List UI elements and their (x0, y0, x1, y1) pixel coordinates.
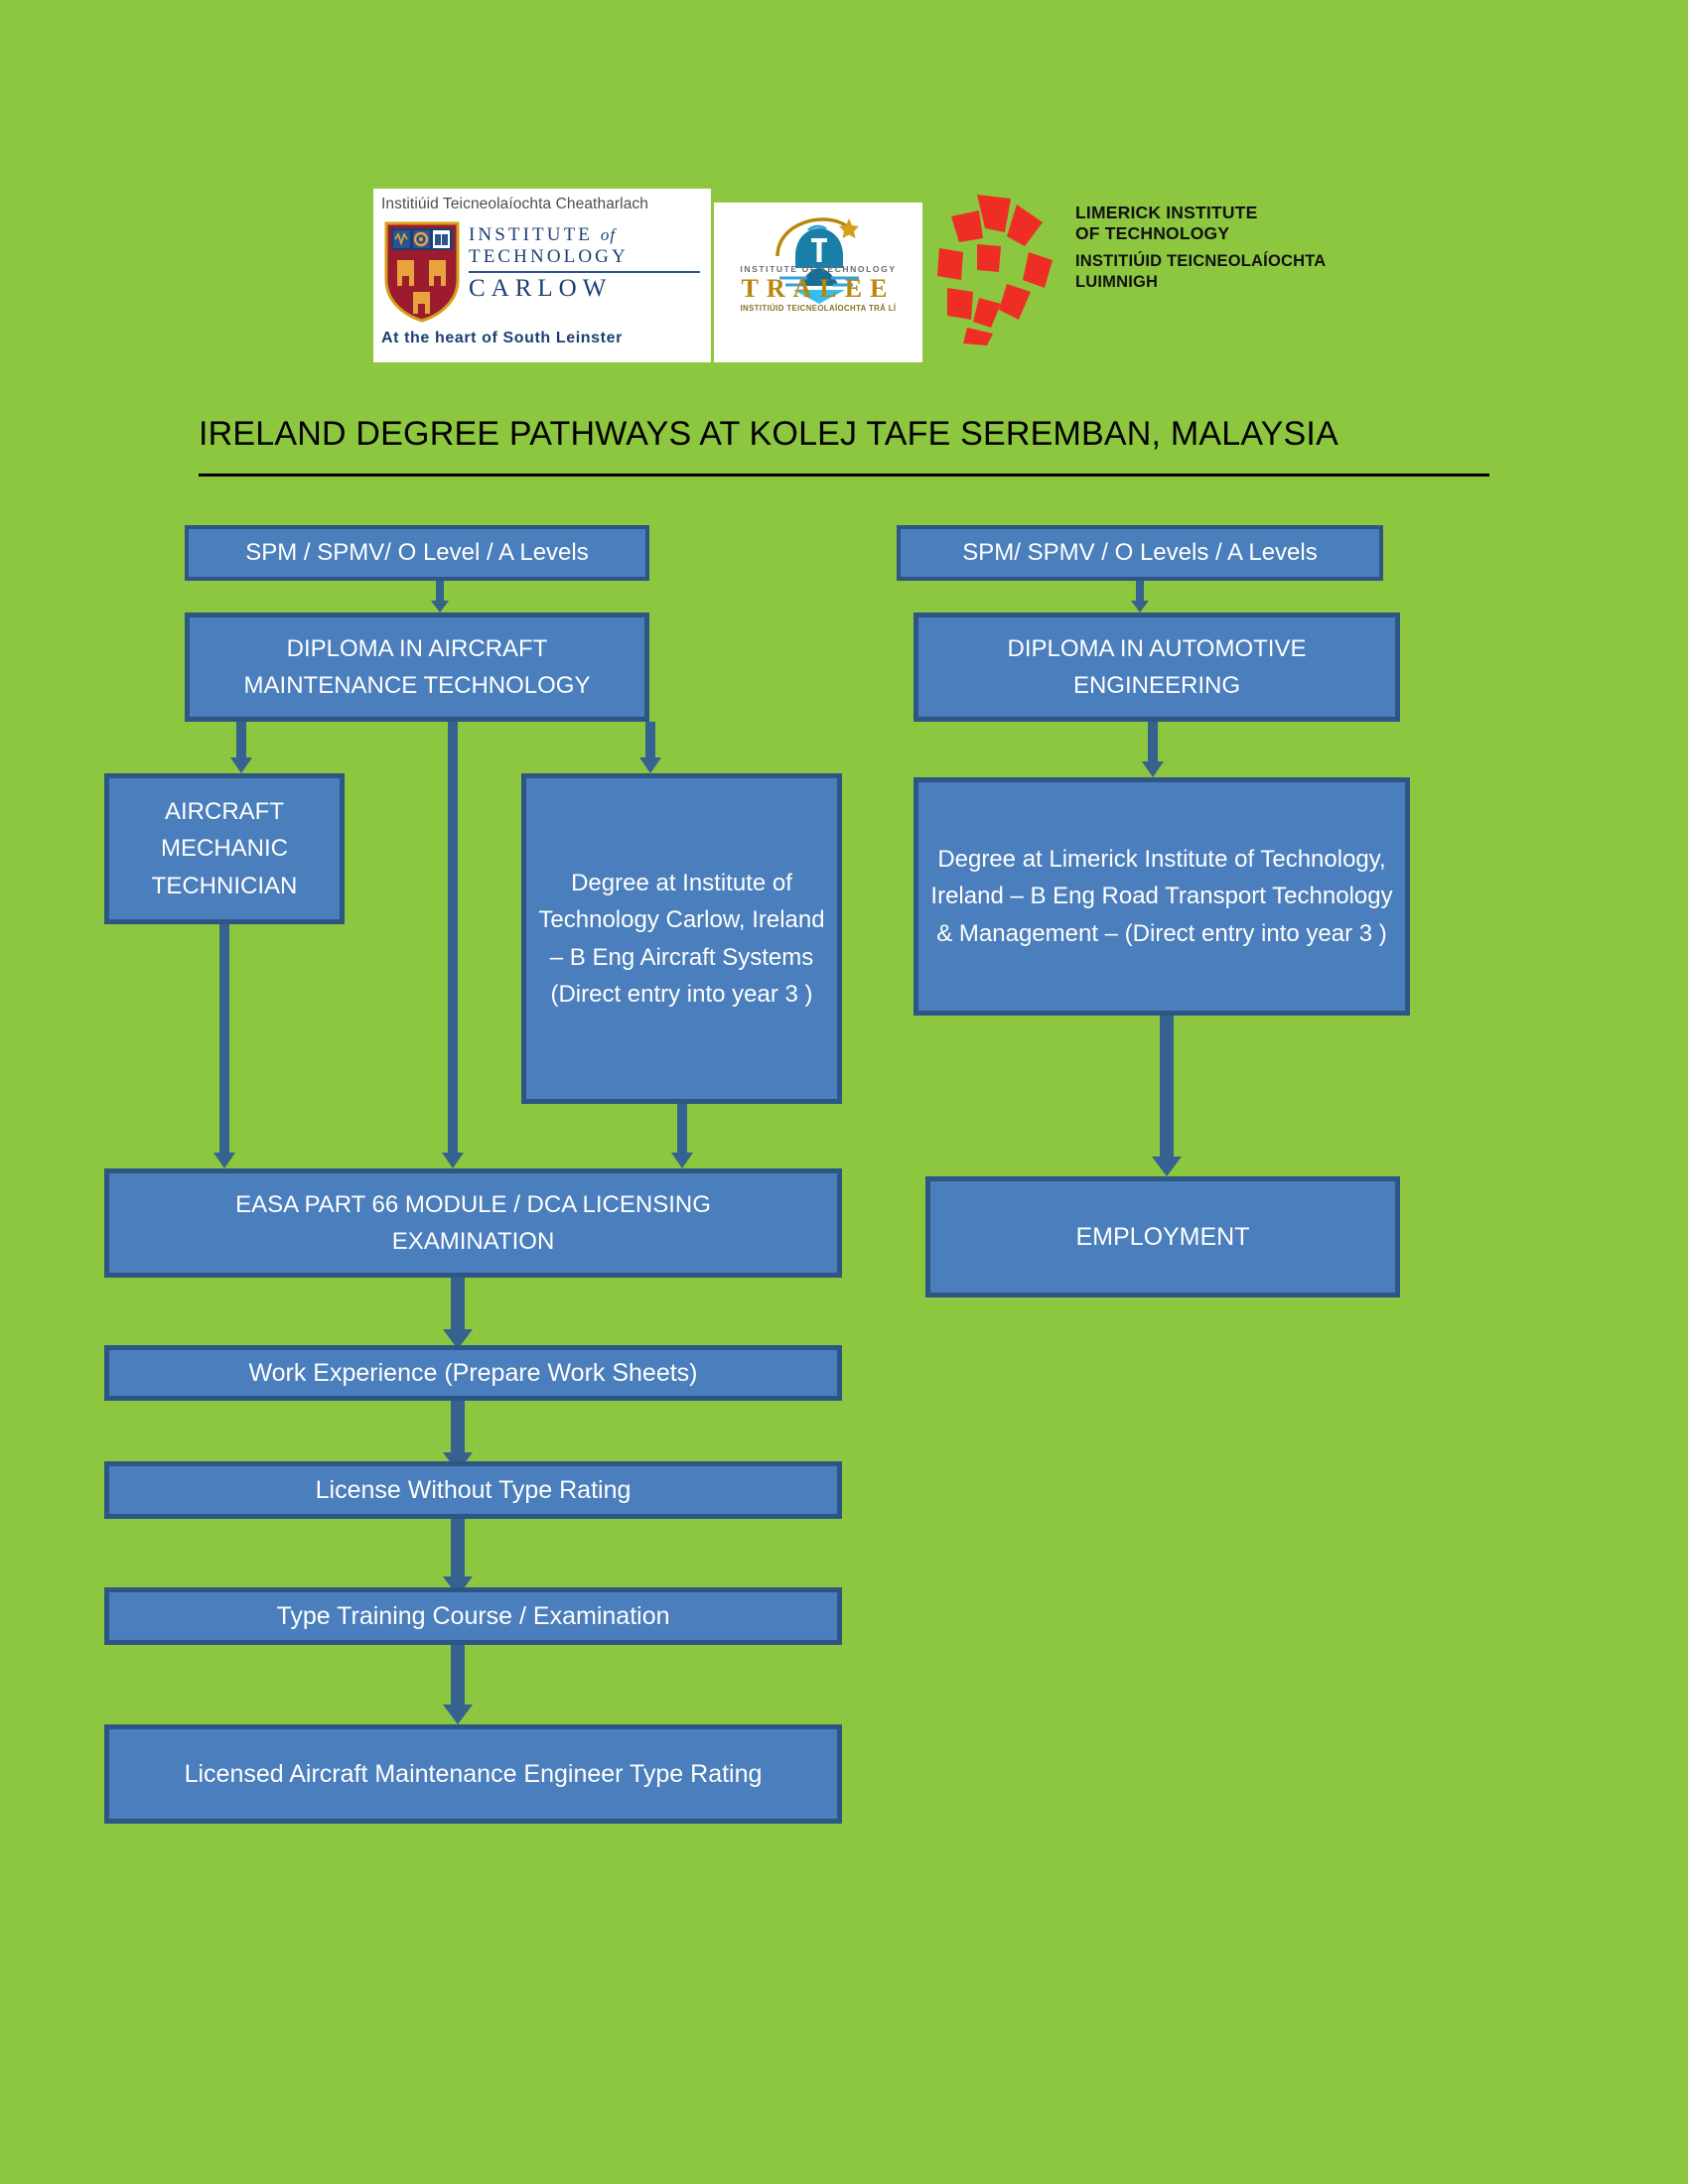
limerick-line3: INSTITIÚID TEICNEOLAÍOCHTA (1075, 251, 1353, 272)
connector-left-diploma-to-technician (230, 722, 252, 773)
tralee-caption-irish: INSTITIÚID TEICNEOLAÍOCHTA TRÁ LÍ (730, 304, 907, 313)
node-right-entry-label: SPM/ SPMV / O Levels / A Levels (962, 534, 1317, 571)
flowchart-page: Institiúid Teicneolaíochta Cheatharlach (0, 0, 1688, 2184)
node-left-easa[interactable]: EASA PART 66 MODULE / DCA LICENSING EXAM… (104, 1168, 842, 1278)
node-left-work-experience-label: Work Experience (Prepare Work Sheets) (248, 1354, 697, 1393)
limerick-line2: OF TECHNOLOGY (1075, 223, 1353, 244)
connector-left-license-to-type-training (443, 1519, 473, 1598)
carlow-line2: TECHNOLOGY (469, 246, 703, 268)
institute-of-technology-tralee-logo: INSTITUTE OF TECHNOLOGY TRALEE INSTITIÚI… (714, 203, 922, 362)
node-left-technician-line3: TECHNICIAN (152, 868, 298, 904)
carlow-line3: CARLOW (469, 275, 703, 303)
node-right-diploma-line1: DIPLOMA IN AUTOMOTIVE (1008, 630, 1307, 667)
node-right-diploma[interactable]: DIPLOMA IN AUTOMOTIVE ENGINEERING (914, 613, 1400, 722)
node-left-entry[interactable]: SPM / SPMV/ O Level / A Levels (185, 525, 649, 581)
node-left-type-training[interactable]: Type Training Course / Examination (104, 1587, 842, 1645)
connector-right-degree-to-employment (1152, 1016, 1182, 1176)
node-left-technician-line1: AIRCRAFT (152, 793, 298, 830)
connector-right-diploma-to-degree (1142, 722, 1164, 777)
carlow-line1-of: of (601, 225, 616, 244)
carlow-tagline: At the heart of South Leinster (381, 330, 623, 347)
node-left-technician-line2: MECHANIC (152, 830, 298, 867)
connector-left-technician-to-easa (213, 924, 235, 1168)
node-left-technician[interactable]: AIRCRAFT MECHANIC TECHNICIAN (104, 773, 345, 924)
page-title: IRELAND DEGREE PATHWAYS AT KOLEJ TAFE SE… (199, 415, 1509, 454)
node-left-entry-label: SPM / SPMV/ O Level / A Levels (245, 534, 588, 571)
node-left-diploma-line2: MAINTENANCE TECHNOLOGY (244, 667, 591, 704)
carlow-irish-name: Institiúid Teicneolaíochta Cheatharlach (381, 196, 648, 213)
limerick-line1: LIMERICK INSTITUTE (1075, 203, 1353, 223)
logo-band: Institiúid Teicneolaíochta Cheatharlach (0, 189, 1688, 362)
node-left-license-no-rating-label: License Without Type Rating (316, 1471, 632, 1510)
carlow-divider (469, 271, 700, 273)
institute-of-technology-carlow-logo: Institiúid Teicneolaíochta Cheatharlach (373, 189, 711, 362)
node-left-diploma[interactable]: DIPLOMA IN AIRCRAFT MAINTENANCE TECHNOLO… (185, 613, 649, 722)
node-left-final[interactable]: Licensed Aircraft Maintenance Engineer T… (104, 1724, 842, 1824)
limerick-emblem-icon (933, 189, 1064, 345)
node-right-employment-label: EMPLOYMENT (1075, 1218, 1249, 1257)
node-left-final-label: Licensed Aircraft Maintenance Engineer T… (185, 1755, 763, 1794)
connector-left-type-training-to-final (443, 1645, 473, 1726)
carlow-shield-icon (383, 220, 461, 324)
limerick-institute-of-technology-logo: LIMERICK INSTITUTE OF TECHNOLOGY INSTITI… (933, 189, 1350, 347)
connector-left-diploma-to-easa (442, 722, 464, 1168)
connector-left-diploma-to-degree (639, 722, 661, 773)
node-right-employment[interactable]: EMPLOYMENT (925, 1176, 1400, 1297)
node-right-entry[interactable]: SPM/ SPMV / O Levels / A Levels (897, 525, 1383, 581)
node-left-easa-line1: EASA PART 66 MODULE / DCA LICENSING (235, 1186, 711, 1223)
node-left-degree-carlow[interactable]: Degree at Institute of Technology Carlow… (521, 773, 842, 1104)
node-left-degree-carlow-label: Degree at Institute of Technology Carlow… (536, 865, 827, 1013)
connector-left-easa-to-work-experience (443, 1278, 473, 1349)
node-right-degree-limerick-label: Degree at Limerick Institute of Technolo… (928, 841, 1395, 952)
node-left-diploma-line1: DIPLOMA IN AIRCRAFT (244, 630, 591, 667)
connector-left-entry-to-diploma (431, 581, 449, 613)
node-right-degree-limerick[interactable]: Degree at Limerick Institute of Technolo… (914, 777, 1410, 1016)
node-left-type-training-label: Type Training Course / Examination (276, 1597, 669, 1636)
limerick-line4: LUIMNIGH (1075, 272, 1353, 293)
title-divider (199, 474, 1489, 477)
tralee-caption-main: TRALEE (730, 274, 907, 304)
node-left-work-experience[interactable]: Work Experience (Prepare Work Sheets) (104, 1345, 842, 1401)
node-left-license-no-rating[interactable]: License Without Type Rating (104, 1461, 842, 1519)
node-right-diploma-line2: ENGINEERING (1008, 667, 1307, 704)
carlow-line1: INSTITUTE (469, 224, 593, 245)
tralee-caption-small: INSTITUTE OF TECHNOLOGY (730, 264, 907, 274)
connector-left-degree-to-easa (671, 1104, 693, 1168)
node-left-easa-line2: EXAMINATION (235, 1223, 711, 1260)
connector-right-entry-to-diploma (1131, 581, 1149, 613)
